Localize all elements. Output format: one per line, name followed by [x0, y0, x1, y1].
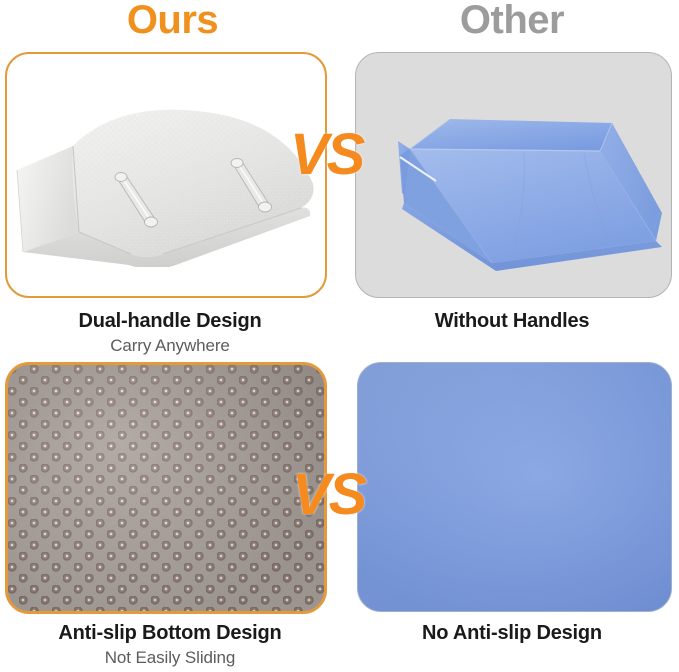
panel-ours-handles	[5, 52, 327, 298]
caption-subtitle: Not Easily Sliding	[0, 646, 340, 669]
caption-ours-anti-slip: Anti-slip Bottom Design Not Easily Slidi…	[0, 620, 340, 669]
caption-other-anti-slip: No Anti-slip Design	[345, 620, 679, 646]
vs-badge-top: VS	[290, 126, 363, 184]
panel-other-smooth-bottom	[357, 362, 672, 612]
comparison-infographic: Ours Other	[0, 0, 679, 672]
caption-title: Without Handles	[345, 308, 679, 334]
panel-ours-anti-slip	[5, 362, 327, 614]
panel-other-no-handles	[355, 52, 672, 298]
caption-ours-handles: Dual-handle Design Carry Anywhere	[0, 308, 340, 357]
vs-badge-bottom: VS	[292, 466, 365, 524]
column-header-other: Other	[345, 0, 679, 44]
caption-other-handles: Without Handles	[345, 308, 679, 334]
white-wedge-pillow-image	[13, 102, 323, 267]
caption-title: Dual-handle Design	[0, 308, 340, 334]
anti-slip-dotted-texture	[8, 365, 324, 611]
caption-title: Anti-slip Bottom Design	[0, 620, 340, 646]
column-header-ours: Ours	[0, 0, 345, 44]
caption-subtitle: Carry Anywhere	[0, 334, 340, 357]
blue-wedge-pillow-image	[374, 81, 664, 276]
caption-title: No Anti-slip Design	[345, 620, 679, 646]
fabric-sheen-overlay	[358, 363, 671, 611]
